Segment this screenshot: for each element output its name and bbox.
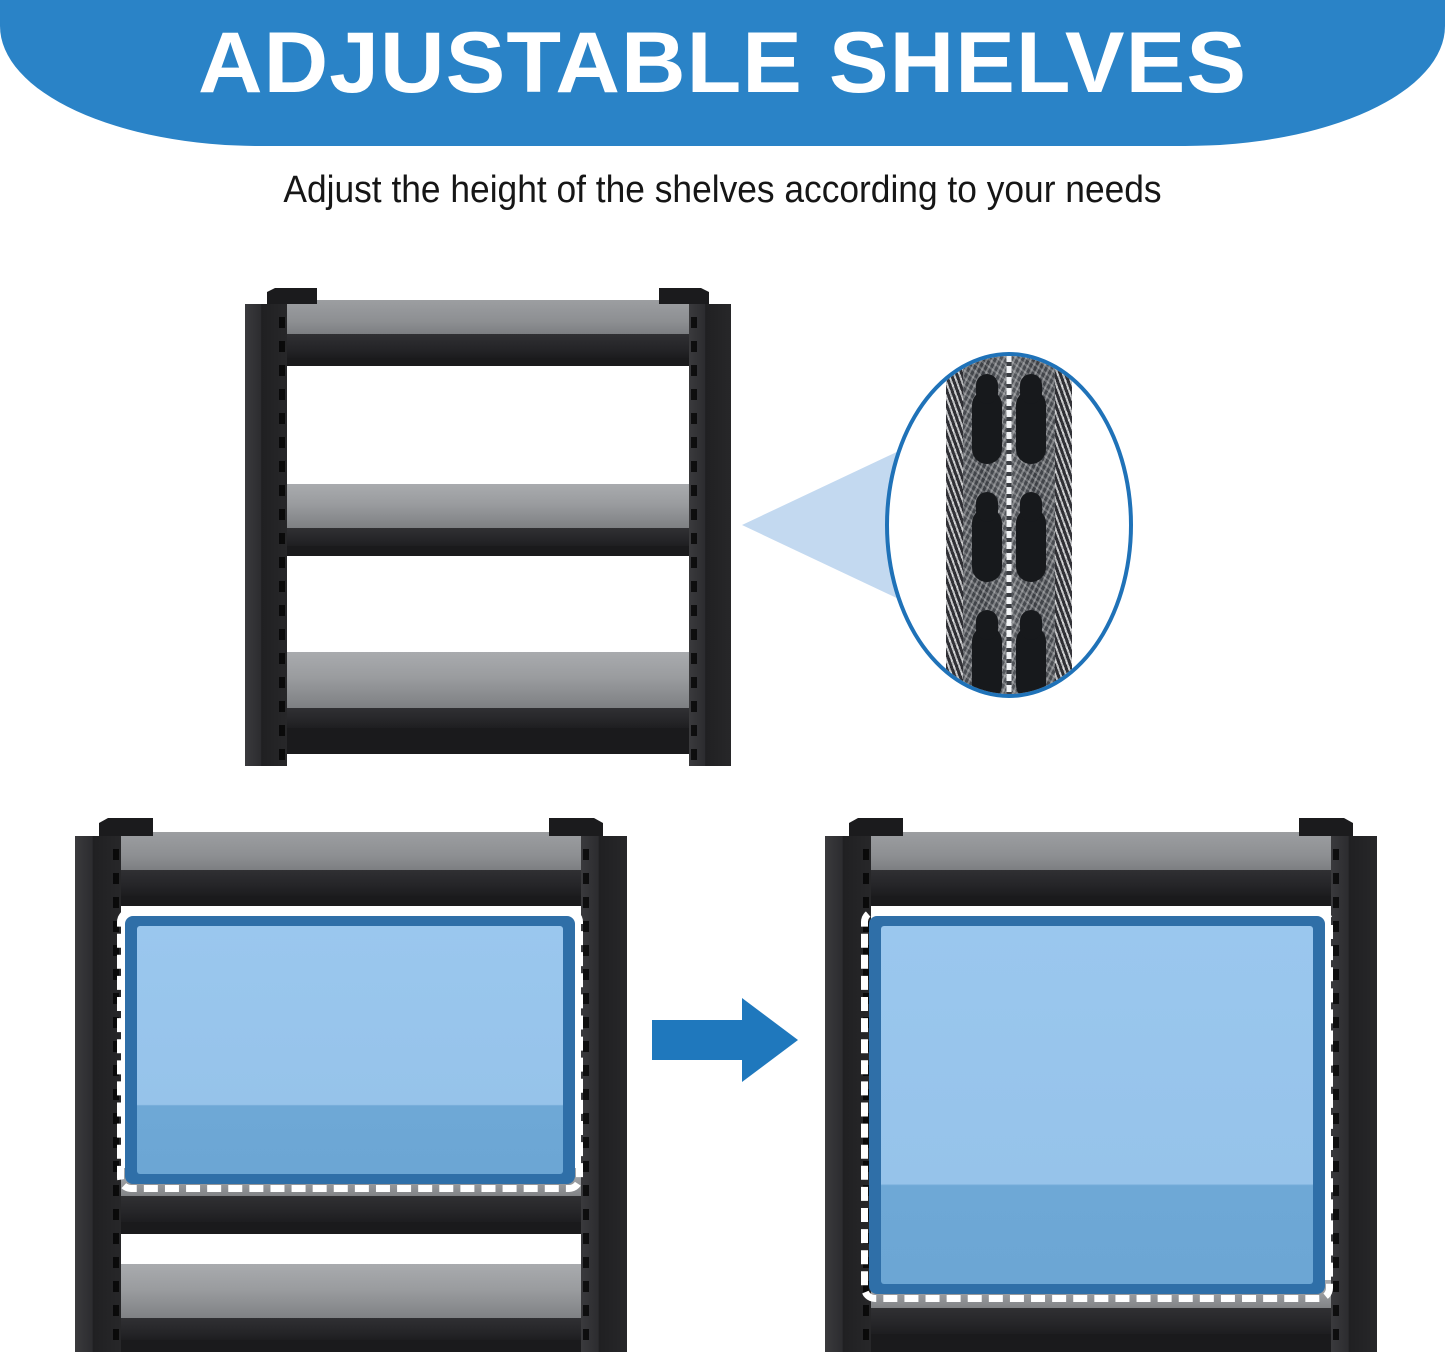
right-post-slot-strip [691,304,697,766]
before-top-shelf-beam [113,870,589,898]
before-lower-shelf-deck [121,1264,581,1320]
middle-shelf-beam-lip [287,546,689,556]
post-slot [1016,508,1046,582]
right-post-cap [659,288,709,304]
left-upright-post [245,304,287,766]
arrow-head [742,998,798,1082]
post-left-texture-edge [946,352,963,698]
before-right-post-cap [549,818,603,836]
after-top-shelf-deck [853,832,1349,872]
before-right-post-slot-strip [583,836,589,1352]
before-storage-zone [125,916,575,1184]
page-subtitle: Adjust the height of the shelves accordi… [51,164,1395,216]
after-top-shelf-beam-lip [863,896,1339,906]
post-slot [972,390,1002,464]
after-shelving-unit [825,818,1377,1352]
infographic-canvas: ADJUSTABLE SHELVES Adjust the height of … [0,0,1445,1352]
top-shelf-beam [281,334,695,360]
page-title: ADJUSTABLE SHELVES [0,8,1445,118]
post-slot [972,626,1002,698]
bottom-shelf-beam-lip [287,728,689,754]
left-post-slot-strip [279,304,285,766]
before-top-shelf-deck [103,832,599,872]
before-storage-zone-fill [137,926,563,1174]
after-right-upright-post [1331,836,1377,1352]
before-middle-shelf-beam-lip [121,1222,581,1234]
post-right-texture-edge [1055,352,1072,698]
top-shelf-deck [271,300,705,336]
after-right-post-slot-strip [1333,836,1339,1352]
after-top-shelf-beam [863,870,1339,898]
bottom-shelf-deck [287,652,689,708]
before-top-shelf-beam-lip [113,896,589,906]
before-left-upright-post [75,836,121,1352]
post-slot [972,508,1002,582]
before-lower-shelf-beam-lip [121,1340,581,1352]
middle-shelf-deck [287,484,689,528]
top-shelving-unit [245,288,731,766]
before-right-upright-post [581,836,627,1352]
post-slot [1016,626,1046,698]
after-left-post-cap [849,818,903,836]
after-lower-shelf-beam-lip [871,1334,1331,1352]
post-center-fold-line [1007,352,1012,698]
right-upright-post [689,304,731,766]
before-left-post-cap [99,818,153,836]
top-shelf-beam-lip [281,358,695,366]
after-right-post-cap [1299,818,1353,836]
after-storage-zone [869,916,1325,1294]
after-storage-zone-fill [881,926,1313,1284]
after-left-upright-post [825,836,871,1352]
transformation-arrow [652,998,798,1082]
left-post-cap [267,288,317,304]
before-left-post-slot-strip [113,836,119,1352]
before-shelving-unit [75,818,627,1352]
magnifier-circle [885,352,1133,698]
magnified-upright-post [946,352,1072,698]
arrow-shaft [652,1020,744,1060]
post-slot [1016,390,1046,464]
